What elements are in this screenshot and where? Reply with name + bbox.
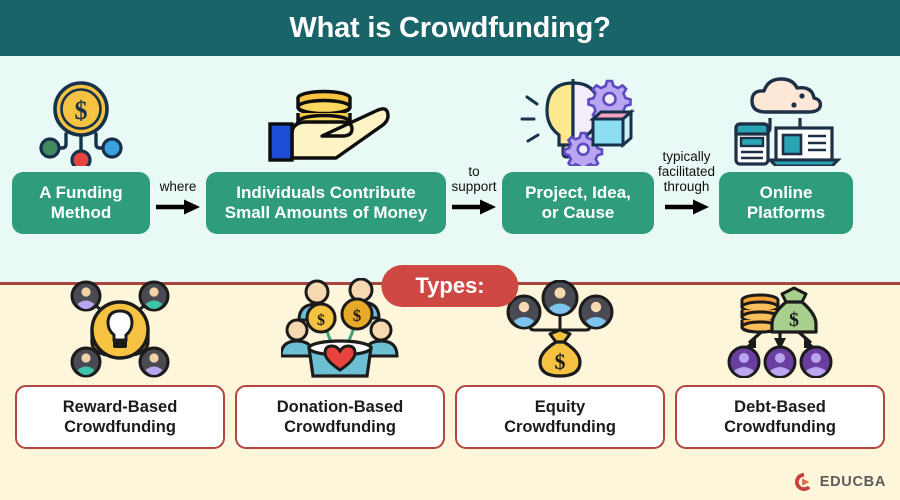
donation-box-heart-icon: $ $ [281, 278, 399, 378]
flow-connector-where: where [150, 180, 206, 216]
type-label-debt-based: Debt-Based Crowdfunding [675, 385, 885, 449]
cloud-devices-icon [730, 74, 842, 166]
type-card-reward-based[interactable]: Reward-Based Crowdfunding [15, 278, 225, 475]
types-badge: Types: [381, 265, 518, 307]
type-label-donation-based: Donation-Based Crowdfunding [235, 385, 445, 449]
flow-label-online-platforms: Online Platforms [719, 172, 853, 234]
arrow-right-icon [450, 198, 498, 216]
svg-text:$: $ [75, 96, 88, 125]
flow-label-individuals-contribute: Individuals Contribute Small Amounts of … [206, 172, 446, 234]
coin-network-icon: $ [34, 74, 128, 166]
svg-text:$: $ [555, 349, 566, 374]
flow-step-funding-method: $ A Funding Method [12, 74, 150, 282]
hand-coins-icon [262, 74, 390, 166]
educba-logo-text: EDUCBA [820, 474, 886, 490]
header-bar: What is Crowdfunding? [0, 0, 900, 56]
type-card-debt-based[interactable]: $ [675, 278, 885, 475]
flow-step-individuals-contribute: Individuals Contribute Small Amounts of … [206, 74, 446, 282]
infographic-root: What is Crowdfunding? $ [0, 0, 900, 500]
flow-step-project-idea-cause: Project, Idea, or Cause [502, 74, 654, 282]
page-title: What is Crowdfunding? [289, 12, 610, 45]
flow-label-funding-method: A Funding Method [12, 172, 150, 234]
lightbulb-gears-icon [519, 74, 637, 166]
flow-connector-to-support: to support [446, 165, 502, 216]
svg-text:$: $ [317, 312, 325, 329]
connector-label-to-support: to support [451, 165, 496, 195]
type-card-equity[interactable]: $ Equity Crowdfunding [455, 278, 665, 475]
type-card-donation-based[interactable]: $ $ Donation-Based Crowdfunding [235, 278, 445, 475]
type-label-equity: Equity Crowdfunding [455, 385, 665, 449]
flow-step-online-platforms: Online Platforms [719, 74, 853, 282]
arrow-right-icon [663, 198, 711, 216]
types-row: Reward-Based Crowdfunding [0, 300, 900, 475]
flow-label-project-idea-cause: Project, Idea, or Cause [502, 172, 654, 234]
coin-lightbulb-network-icon [64, 278, 176, 378]
educba-logo-icon [794, 472, 814, 492]
money-to-people-icon: $ [726, 278, 834, 378]
people-money-bag-icon: $ [506, 278, 614, 378]
svg-text:$: $ [789, 309, 799, 331]
connector-label-where: where [160, 180, 197, 195]
type-label-reward-based: Reward-Based Crowdfunding [15, 385, 225, 449]
educba-logo[interactable]: EDUCBA [794, 472, 886, 492]
definition-flow: $ A Funding Method where [0, 56, 900, 282]
arrow-right-icon [154, 198, 202, 216]
flow-connector-typically-facilitated-through: typically facilitated through [654, 150, 719, 216]
svg-text:$: $ [353, 306, 362, 325]
connector-label-typically-facilitated-through: typically facilitated through [658, 150, 715, 195]
